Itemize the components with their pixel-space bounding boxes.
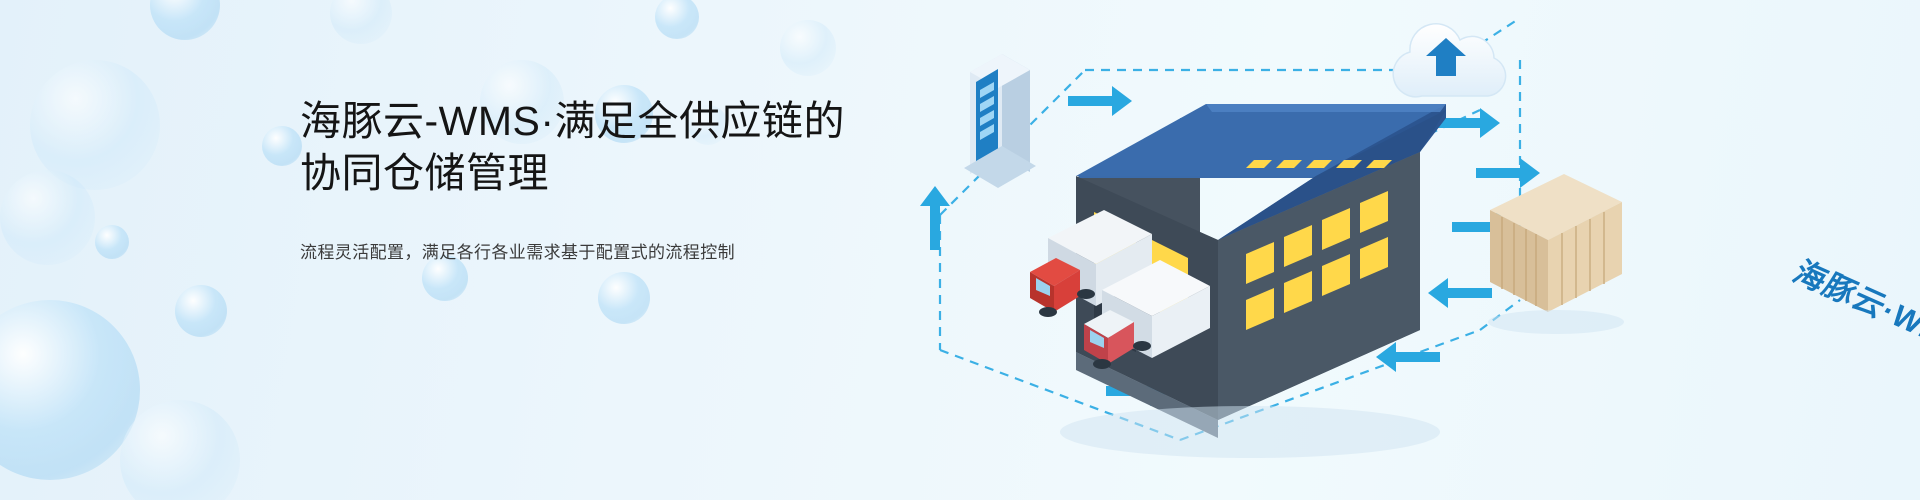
decorative-bubble — [655, 0, 699, 39]
headline-line-2: 协同仓储管理 — [300, 147, 940, 199]
decorative-bubble — [598, 272, 650, 324]
headline-line-1: 海豚云-WMS·满足全供应链的 — [300, 95, 940, 147]
page-title: 海豚云-WMS·满足全供应链的 协同仓储管理 — [300, 95, 940, 200]
decorative-bubble — [150, 0, 220, 40]
promo-banner: 海豚云-WMS·满足全供应链的 协同仓储管理 流程灵活配置，满足各行各业需求基于… — [0, 0, 1920, 500]
server-rack-icon — [964, 50, 1036, 188]
decorative-bubble — [175, 285, 227, 337]
warehouse-illustration: 海豚云·WMS 协同仓储管理 — [880, 0, 1920, 500]
decorative-bubble — [0, 300, 140, 480]
decorative-bubble — [30, 60, 160, 190]
banner-text-block: 海豚云-WMS·满足全供应链的 协同仓储管理 流程灵活配置，满足各行各业需求基于… — [300, 95, 940, 263]
decorative-bubble — [262, 126, 302, 166]
cloud-upload-icon — [1393, 24, 1505, 97]
decorative-bubble — [0, 170, 95, 265]
decorative-bubble — [780, 20, 836, 76]
decorative-bubble — [330, 0, 392, 44]
banner-subtitle: 流程灵活配置，满足各行各业需求基于配置式的流程控制 — [300, 238, 940, 263]
decorative-bubble — [95, 225, 129, 259]
decorative-bubble — [120, 400, 240, 500]
